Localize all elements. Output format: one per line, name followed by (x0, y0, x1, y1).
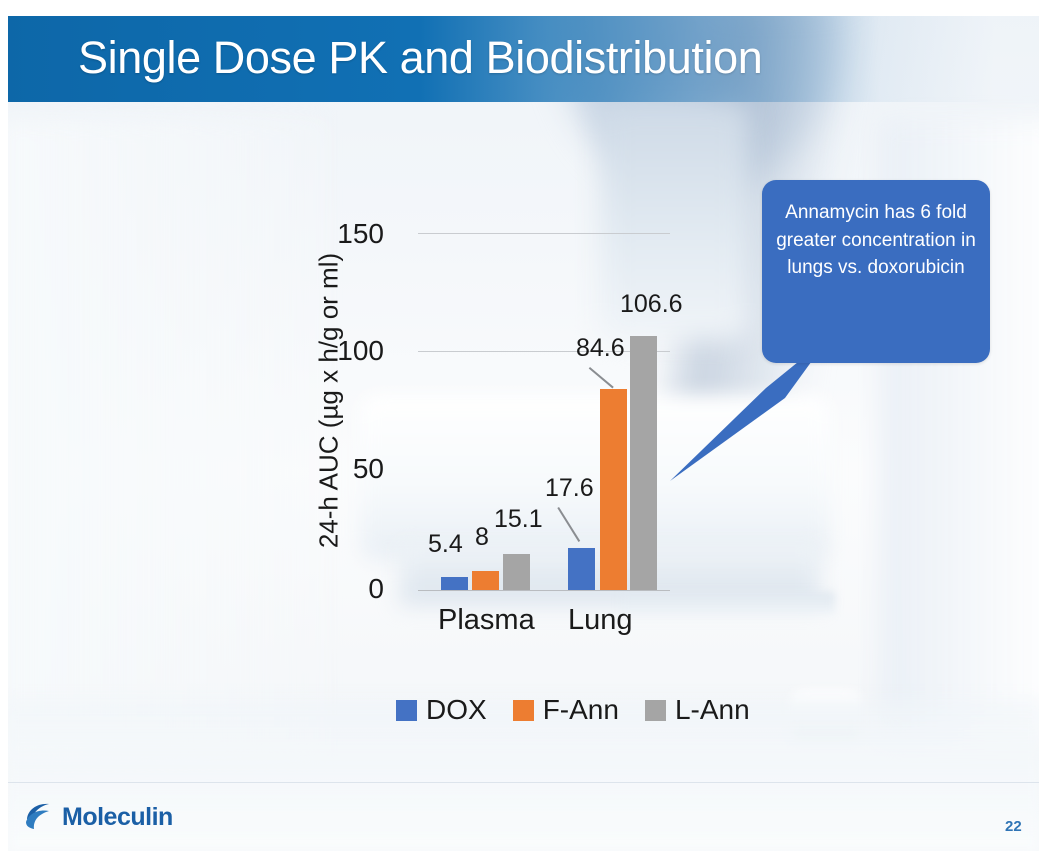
moleculin-mark-icon (22, 800, 56, 834)
bar-plasma-lann[interactable] (503, 554, 530, 590)
bar-plasma-fann[interactable] (472, 571, 499, 590)
y-tick-0: 0 (314, 573, 384, 605)
leader-line-lung-dox (558, 507, 581, 542)
page-title: Single Dose PK and Biodistribution (78, 32, 762, 84)
data-label-lung-dox: 17.6 (545, 474, 594, 503)
data-label-plasma-dox: 5.4 (428, 530, 463, 559)
page-number: 22 (1005, 818, 1022, 835)
bar-chart: 24-h AUC (µg x h/g or ml) 150 100 50 0 5… (282, 190, 702, 660)
y-tick-150: 150 (314, 218, 384, 250)
y-axis-ticks: 150 100 50 0 (312, 190, 384, 610)
plot-area: 5.4 8 15.1 17.6 84.6 106.6 Plasma Lung (418, 190, 670, 590)
legend-item-dox[interactable]: DOX (396, 694, 487, 726)
x-axis-line (418, 590, 670, 591)
data-label-lung-lann: 106.6 (620, 290, 683, 319)
y-tick-100: 100 (314, 335, 384, 367)
callout-box[interactable]: Annamycin has 6 fold greater concentrati… (762, 180, 990, 363)
brand-name: Moleculin (62, 803, 173, 832)
legend-label-lann: L-Ann (675, 694, 750, 726)
category-label-plasma: Plasma (438, 604, 535, 637)
y-tick-50: 50 (314, 453, 384, 485)
bar-lung-dox[interactable] (568, 548, 595, 590)
chart-legend: DOX F-Ann L-Ann (396, 694, 750, 726)
brand-logo: Moleculin (22, 800, 173, 834)
callout-text: Annamycin has 6 fold greater concentrati… (776, 199, 976, 282)
presentation-slide: Single Dose PK and Biodistribution 24-h … (0, 0, 1047, 859)
data-label-plasma-lann: 15.1 (494, 505, 543, 534)
slide-edge-top (0, 0, 1047, 16)
legend-item-lann[interactable]: L-Ann (645, 694, 750, 726)
bar-lung-lann[interactable] (630, 336, 657, 590)
footer-divider (0, 782, 1047, 783)
category-label-lung: Lung (568, 604, 633, 637)
bar-lung-fann[interactable] (600, 389, 627, 590)
legend-label-fann: F-Ann (543, 694, 619, 726)
data-label-lung-fann: 84.6 (576, 334, 625, 363)
legend-item-fann[interactable]: F-Ann (513, 694, 619, 726)
slide-edge-bottom (0, 851, 1047, 859)
slide-edge-left (0, 0, 8, 859)
legend-swatch-lann-icon (645, 700, 666, 721)
leader-line-lung-fann (589, 367, 614, 388)
slide-edge-right (1039, 0, 1047, 859)
legend-swatch-fann-icon (513, 700, 534, 721)
legend-label-dox: DOX (426, 694, 487, 726)
legend-swatch-dox-icon (396, 700, 417, 721)
data-label-plasma-fann: 8 (475, 523, 489, 552)
bar-plasma-dox[interactable] (441, 577, 468, 590)
